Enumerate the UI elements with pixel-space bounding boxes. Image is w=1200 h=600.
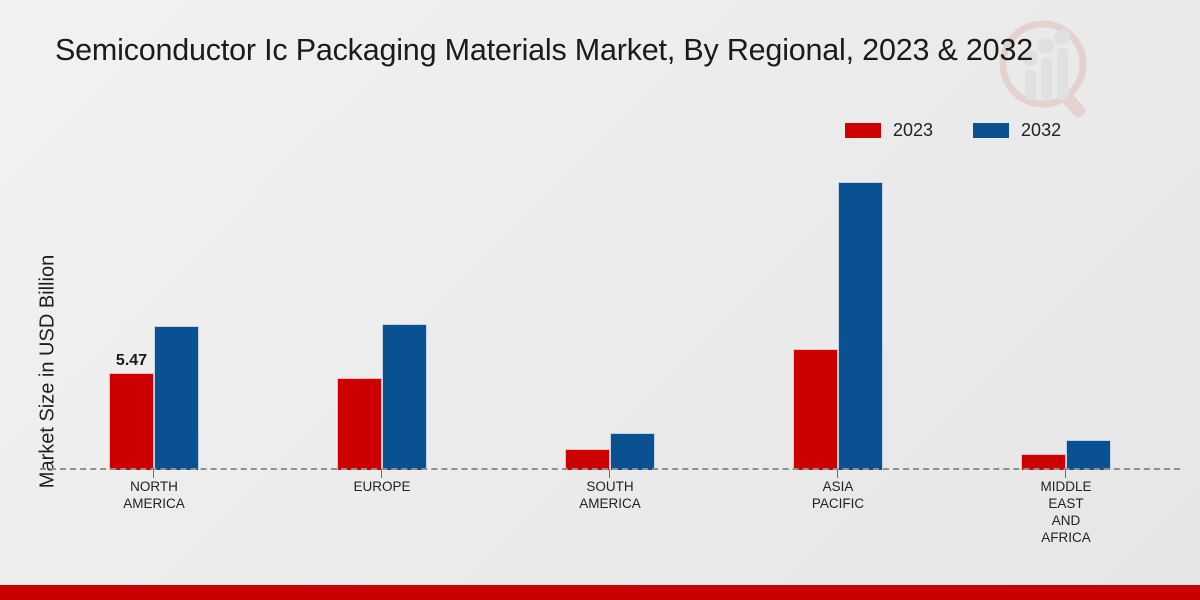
x-axis-label-line: EUROPE xyxy=(353,479,410,494)
bar-groups: 5.47 xyxy=(40,150,1180,470)
legend-label-2032: 2032 xyxy=(1021,120,1061,141)
bar-2032[interactable] xyxy=(1066,440,1111,470)
x-axis-label-line: AFRICA xyxy=(1041,530,1091,545)
x-axis-tick xyxy=(609,470,610,478)
bar-2023[interactable] xyxy=(337,378,382,470)
x-axis-label-line: PACIFIC xyxy=(812,496,864,511)
x-axis-label-line: ASIA xyxy=(823,479,854,494)
bar-group xyxy=(724,150,952,470)
legend-label-2023: 2023 xyxy=(893,120,933,141)
x-axis-tick xyxy=(1065,470,1066,478)
bar-2032[interactable] xyxy=(382,324,427,470)
x-axis-label-1: EUROPE xyxy=(268,478,496,568)
bar-2032[interactable] xyxy=(610,433,655,470)
x-axis-label-3: ASIAPACIFIC xyxy=(724,478,952,568)
x-axis-label-line: SOUTH xyxy=(586,479,633,494)
legend-item-2023[interactable]: 2023 xyxy=(845,120,933,141)
x-axis-label-4: MIDDLEEASTANDAFRICA xyxy=(952,478,1180,568)
legend-item-2032[interactable]: 2032 xyxy=(973,120,1061,141)
x-axis-label-line: EAST xyxy=(1048,496,1083,511)
x-axis-label-line: AMERICA xyxy=(123,496,185,511)
x-axis-tick xyxy=(837,470,838,478)
x-axis-label-0: NORTHAMERICA xyxy=(40,478,268,568)
x-axis-label-line: NORTH xyxy=(130,479,178,494)
chart-legend: 2023 2032 xyxy=(845,120,1061,141)
x-axis-tick xyxy=(381,470,382,478)
bar-2023[interactable]: 5.47 xyxy=(109,373,154,470)
bar-group: 5.47 xyxy=(40,150,268,470)
x-axis-baseline xyxy=(40,468,1180,470)
x-axis-label-2: SOUTHAMERICA xyxy=(496,478,724,568)
legend-swatch-2032 xyxy=(973,123,1009,138)
bar-2032[interactable] xyxy=(154,326,199,470)
bar-group xyxy=(952,150,1180,470)
page-title: Semiconductor Ic Packaging Materials Mar… xyxy=(55,33,1155,68)
footer-accent-band xyxy=(0,585,1200,600)
bar-value-label: 5.47 xyxy=(116,352,147,370)
bar-group xyxy=(496,150,724,470)
plot-area: 5.47 xyxy=(40,150,1180,470)
bar-2023[interactable] xyxy=(565,449,610,470)
bar-2032[interactable] xyxy=(838,182,883,470)
x-axis-label-line: AMERICA xyxy=(579,496,641,511)
x-axis-tick xyxy=(153,470,154,478)
x-axis-label-line: AND xyxy=(1052,513,1081,528)
bar-group xyxy=(268,150,496,470)
x-axis-label-line: MIDDLE xyxy=(1040,479,1091,494)
bar-2023[interactable] xyxy=(793,349,838,470)
legend-swatch-2023 xyxy=(845,123,881,138)
x-axis-category-labels: NORTHAMERICAEUROPESOUTHAMERICAASIAPACIFI… xyxy=(40,478,1180,568)
